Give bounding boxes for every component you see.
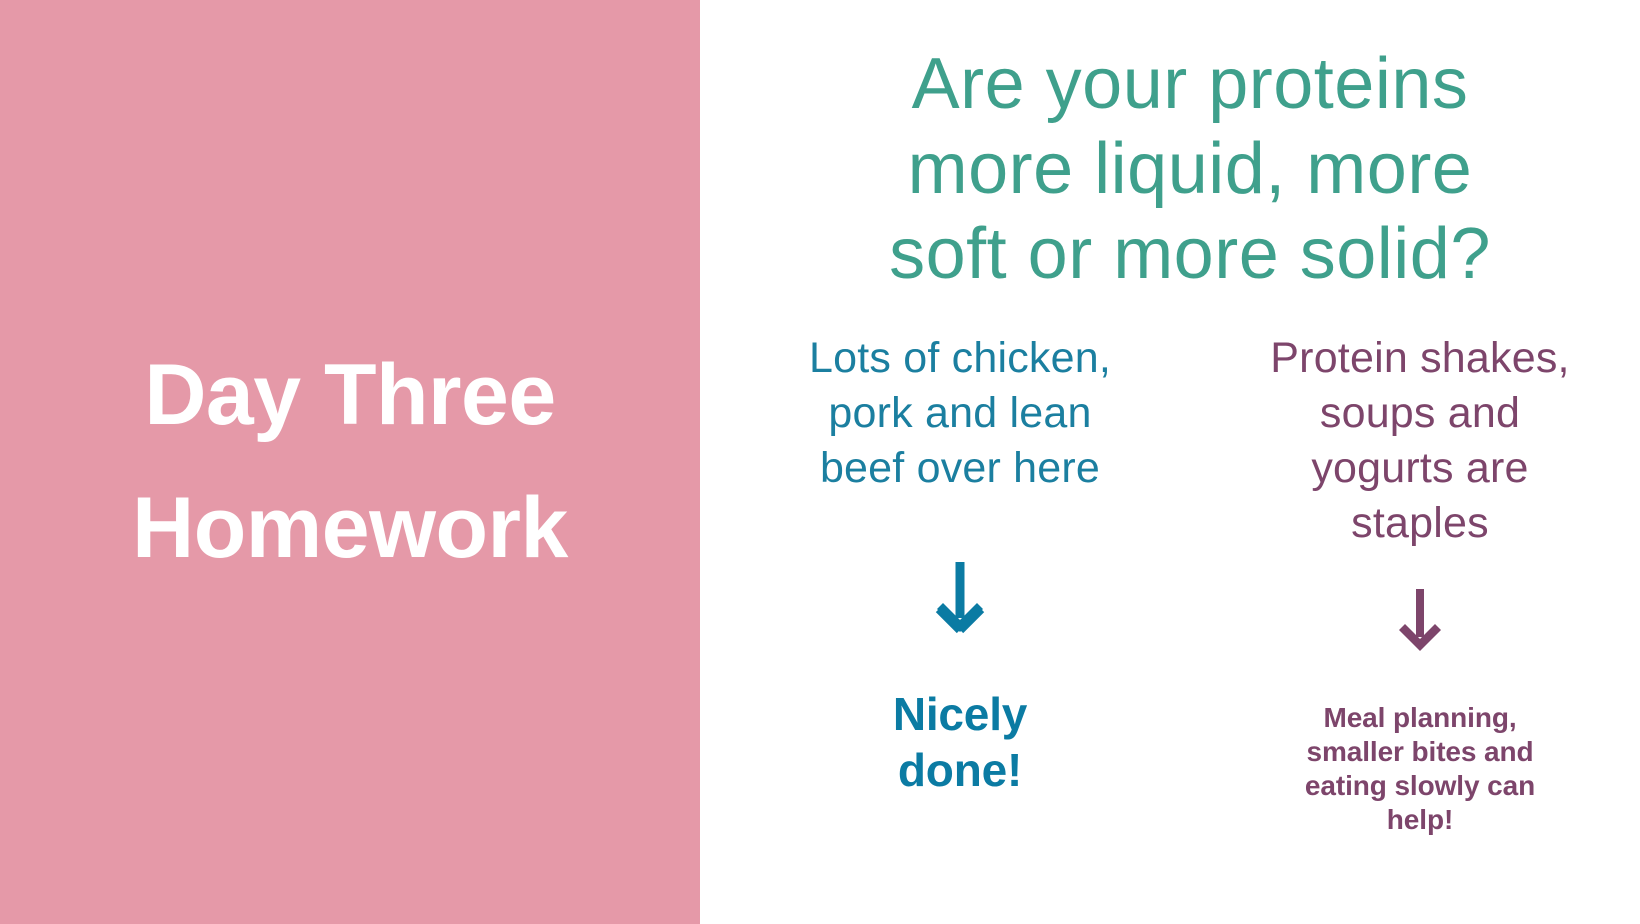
headline-line-1: Are your proteins	[889, 42, 1491, 127]
left-title-panel: Day Three Homework	[0, 0, 700, 924]
down-arrow-icon	[1393, 587, 1447, 653]
column-right-footer-line-1: Meal planning,	[1305, 701, 1535, 735]
column-liquid-proteins: Protein shakes, soups and yogurts are st…	[1210, 331, 1630, 838]
column-left-body-line-1: Lots of chicken,	[809, 331, 1111, 386]
column-left-body: Lots of chicken, pork and lean beef over…	[809, 331, 1111, 496]
column-right-footer-line-3: eating slowly can	[1305, 769, 1535, 803]
headline-line-3: soft or more solid?	[889, 212, 1491, 297]
column-right-body: Protein shakes, soups and yogurts are st…	[1270, 331, 1569, 551]
column-left-body-line-3: beef over here	[809, 441, 1111, 496]
column-right-footer-line-4: help!	[1305, 803, 1535, 837]
slide-title-line-1: Day Three	[132, 329, 568, 462]
column-right-body-line-2: soups and	[1270, 386, 1569, 441]
slide-title: Day Three Homework	[132, 329, 568, 596]
down-arrow-icon	[929, 560, 991, 634]
column-right-arrow-wrap	[1210, 587, 1630, 653]
column-left-footer-line-1: Nicely	[893, 686, 1027, 742]
column-left-footer-line-2: done!	[893, 742, 1027, 798]
headline-line-2: more liquid, more	[889, 127, 1491, 212]
answer-columns: Lots of chicken, pork and lean beef over…	[750, 331, 1630, 924]
slide-root: Day Three Homework Are your proteins mor…	[0, 0, 1640, 924]
column-right-footer: Meal planning, smaller bites and eating …	[1305, 701, 1535, 838]
column-left-body-line-2: pork and lean	[809, 386, 1111, 441]
column-left-arrow-wrap	[750, 560, 1170, 634]
column-right-body-line-3: yogurts are	[1270, 441, 1569, 496]
slide-title-line-2: Homework	[132, 462, 568, 595]
content-panel: Are your proteins more liquid, more soft…	[700, 0, 1640, 924]
column-left-footer: Nicely done!	[893, 686, 1027, 798]
headline-question: Are your proteins more liquid, more soft…	[889, 42, 1491, 297]
column-solid-proteins: Lots of chicken, pork and lean beef over…	[750, 331, 1170, 798]
column-right-footer-line-2: smaller bites and	[1305, 735, 1535, 769]
column-right-body-line-1: Protein shakes,	[1270, 331, 1569, 386]
column-right-body-line-4: staples	[1270, 496, 1569, 551]
